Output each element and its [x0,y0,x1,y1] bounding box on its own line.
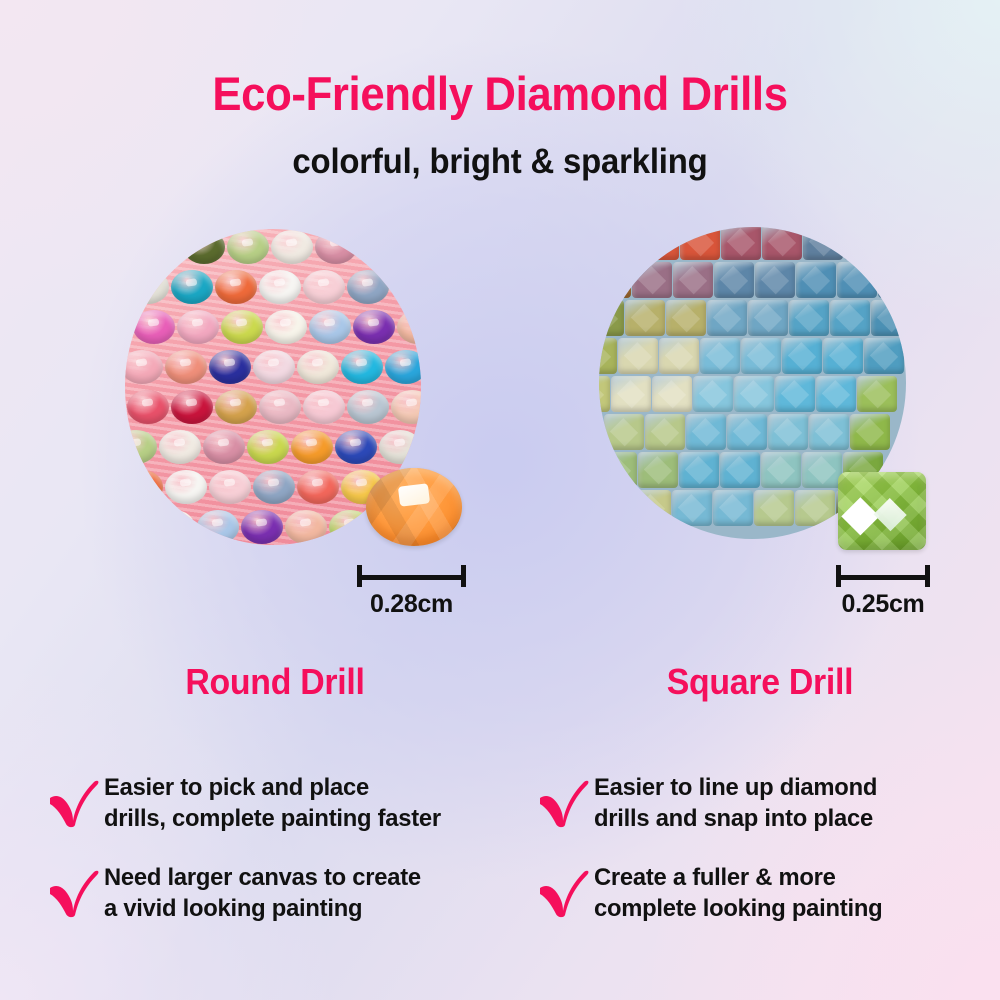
round-drill-bead [197,510,239,544]
round-swatch-highlight [398,483,430,507]
round-drill-bead [335,430,377,464]
round-drill-bead [379,430,421,464]
square-drill-bead [748,300,788,336]
round-drill-bead [125,350,163,384]
square-dimension-label: 0.25cm [830,590,936,619]
round-drill-bead [303,390,345,424]
list-item: Easier to line up diamond drills and sna… [536,772,996,834]
square-drill-bead [754,490,794,526]
square-drill-bead [796,262,836,298]
round-drill-bead [215,270,257,304]
round-drill-bead [227,230,269,264]
round-drill-bead [391,390,421,424]
square-drill-bead [864,338,904,374]
list-item: Need larger canvas to create a vivid loo… [46,862,516,924]
round-drill-bead [403,230,421,264]
square-drill-bead [625,300,665,336]
square-drill-bead [734,376,774,412]
round-drill-bead [309,310,351,344]
square-drill-bead [850,414,890,450]
round-drill-bead [127,390,169,424]
round-drill-bead [397,310,421,344]
round-drill-bead [171,390,213,424]
square-drill-bead [795,490,835,526]
round-drill-bead [359,230,401,264]
dimension-cap-right [461,565,466,587]
square-drill-bead [720,452,760,488]
square-drill-bead [727,414,767,450]
list-item-label: Easier to line up diamond drills and sna… [594,772,877,834]
square-drill-bead [599,414,603,450]
square-dimension-bar [836,565,930,587]
square-drill-bead [693,376,733,412]
square-drill-bead [599,376,610,412]
round-drill-bead [125,430,157,464]
square-drill-bead [599,338,617,374]
square-drill-bead [830,300,870,336]
square-drill-bead [700,338,740,374]
square-drill-bead [809,414,849,450]
square-drill-bead [837,262,877,298]
square-drill-bead [802,452,842,488]
round-dimension-label: 0.28cm [357,590,466,619]
round-drill-bead [271,230,313,264]
square-drill-bead [666,300,706,336]
round-dimension-bar [357,565,466,587]
square-drill-bead [673,262,713,298]
square-drill-bead [645,414,685,450]
round-drill-bead [133,310,175,344]
round-drill-bead [209,350,251,384]
square-drill-bead [713,490,753,526]
round-drill-bead [177,310,219,344]
square-drill-bead [679,452,719,488]
round-drill-bead [353,310,395,344]
round-drill-bead [221,310,263,344]
check-icon [536,776,594,828]
square-column-title: Square Drill [605,661,915,703]
square-drill-bead [652,376,692,412]
square-drill-bead [599,262,631,298]
square-drill-bead [714,262,754,298]
square-drill-bead [639,227,679,260]
square-drill-bead [823,338,863,374]
square-drill-bead [761,452,801,488]
square-drill-bead [871,300,906,336]
list-item-label: Easier to pick and place drills, complet… [104,772,441,834]
square-drill-bead [885,227,906,260]
square-drill-bead [755,262,795,298]
square-drill-bead [618,338,658,374]
square-drill-bead [599,300,624,336]
round-drill-bead [315,230,357,264]
round-drill-bead [253,470,295,504]
square-drill-bead [631,490,671,526]
round-drill-bead [291,430,333,464]
round-drill-bead [241,510,283,544]
round-drill-bead [127,270,169,304]
list-item: Create a fuller & more complete looking … [536,862,996,924]
square-drill-bead [707,300,747,336]
page-title: Eco-Friendly Diamond Drills [35,66,965,121]
round-drill-bead [285,510,327,544]
round-drill-bead [125,230,137,264]
round-drill-bead [125,310,131,344]
square-drill-bead [680,227,720,260]
square-drill-bead [632,262,672,298]
round-drill-bead [153,510,195,544]
square-drill-bead [768,414,808,450]
square-drill-bead [721,227,761,260]
square-drill-bead [604,414,644,450]
round-drill-bead [171,270,213,304]
list-item-label: Need larger canvas to create a vivid loo… [104,862,421,924]
square-drill-bead [599,227,638,260]
square-drill-bead [672,490,712,526]
square-drill-bead [686,414,726,450]
round-column-title: Round Drill [120,661,430,703]
infographic-page: Eco-Friendly Diamond Drills colorful, br… [0,0,1000,1000]
round-drill-bead [165,470,207,504]
square-drill-bead [782,338,822,374]
square-drill-bead [789,300,829,336]
round-drill-bead [203,430,245,464]
square-drill-bead [775,376,815,412]
check-icon [536,866,594,918]
square-drill-swatch [838,472,926,550]
square-drill-bead [659,338,699,374]
square-drill-bead [816,376,856,412]
round-drill-bead [347,390,389,424]
square-drill-bead [741,338,781,374]
round-drill-bead [347,270,389,304]
round-swatch-facets [366,468,462,546]
round-drill-bead [385,350,421,384]
round-drill-bead [125,470,163,504]
list-item-label: Create a fuller & more complete looking … [594,862,882,924]
round-drill-bead [341,350,383,384]
round-drill-bead [215,390,257,424]
square-drill-bead [857,376,897,412]
round-drill-bead [165,350,207,384]
round-drill-bead [297,350,339,384]
square-drill-bead [803,227,843,260]
round-drill-bead [159,430,201,464]
round-drill-bead [183,230,225,264]
round-drill-bead [259,270,301,304]
list-item: Easier to pick and place drills, complet… [46,772,516,834]
square-drill-bead [638,452,678,488]
dimension-rule [836,575,930,580]
round-drill-bead [259,390,301,424]
round-drill-bead [253,350,295,384]
square-drill-bead [599,452,637,488]
round-drill-bead [209,470,251,504]
round-drill-bead [297,470,339,504]
square-drill-bead [611,376,651,412]
square-drill-bead [878,262,906,298]
dimension-cap-right [925,565,930,587]
dimension-rule [357,575,466,580]
round-drill-bead [265,310,307,344]
square-drill-bead [844,227,884,260]
check-icon [46,866,104,918]
round-drill-bead [139,230,181,264]
page-subtitle: colorful, bright & sparkling [30,142,970,182]
round-drill-bead [125,510,151,544]
round-drill-bead [303,270,345,304]
square-drill-bead [599,490,630,526]
round-drill-bead [391,270,421,304]
square-drill-bead [762,227,802,260]
round-drill-bead [247,430,289,464]
check-icon [46,776,104,828]
round-drill-swatch [366,468,462,546]
